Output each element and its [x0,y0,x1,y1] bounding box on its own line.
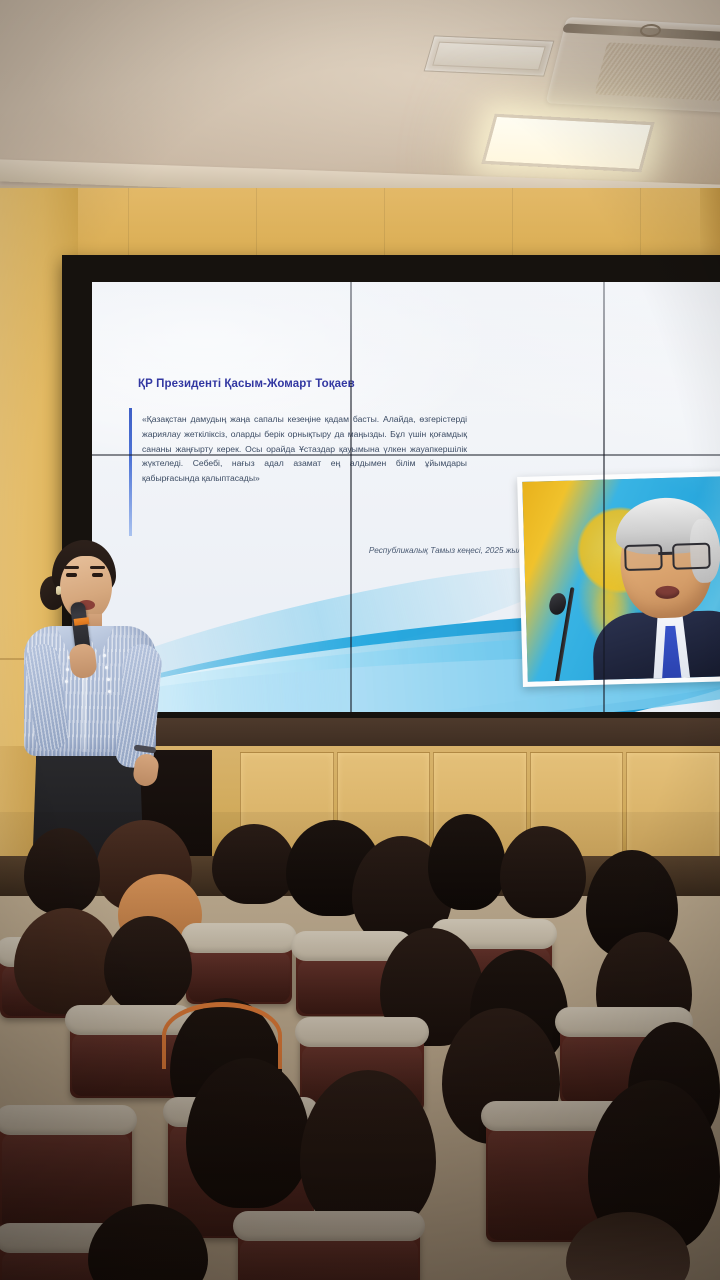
presenter-hand-right [132,752,160,787]
panel-seam-vertical-1 [350,282,352,712]
panel-seam-horizontal-1 [92,454,720,456]
panel-seam-vertical-2 [603,282,605,712]
audience-head [212,824,296,904]
glasses-bridge [658,552,672,555]
presenter-eye-right [92,573,103,577]
presenter-eyebrow-left [64,566,79,569]
presenter-eyebrow-right [90,566,105,569]
audience-head [186,1058,310,1208]
slide-title: ҚР Президенті Қасым-Жомарт Тоқаев [138,378,478,390]
audience-head [24,828,100,914]
ceiling-vent-icon [424,35,555,76]
glasses-lens-left [624,544,663,571]
president-photo-card [517,471,720,687]
video-wall-display[interactable]: ҚР Президенті Қасым-Жомарт Тоқаев «Қазақ… [92,282,720,712]
ac-grill [594,42,720,101]
audience-headband [162,1002,282,1069]
ceiling-led-panel [481,114,654,172]
glasses-lens-right [672,543,711,570]
slide-source-citation: Республикалық Тамыз кеңесі, 2025 жыл [262,546,522,555]
audience-head [500,826,586,918]
presenter-eye-left [66,573,77,577]
presentation-photo-scene: ҚР Президенті Қасым-Жомарт Тоқаев «Қазақ… [0,0,720,1280]
president-glasses-icon [624,543,713,567]
slide-quote-accent-bar [129,408,132,536]
slide-quote-text: «Қазақстан дамудың жаңа сапалы кезеңіне … [142,412,467,486]
president-photo [522,476,720,682]
auditorium-seat[interactable] [186,930,292,1004]
presenter-hand-holding-mic [68,643,97,680]
audience-seating [0,812,720,1280]
auditorium-seat[interactable] [238,1218,420,1280]
presenter-earring [56,586,61,595]
audience-head [104,916,192,1012]
audience-head [428,814,506,910]
